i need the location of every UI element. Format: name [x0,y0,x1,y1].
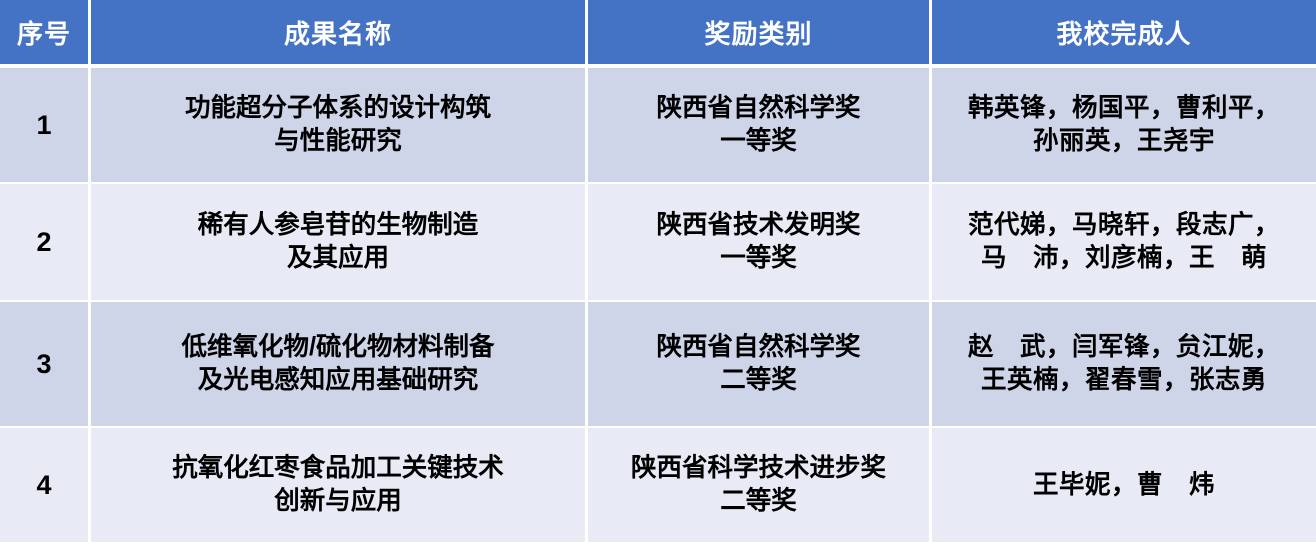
cell-award: 陕西省技术发明奖 一等奖 [588,182,932,302]
cell-name-line1: 功能超分子体系的设计构筑 [97,92,579,125]
cell-name-line1: 抗氧化红枣食品加工关键技术 [97,452,579,485]
table-header: 序号 成果名称 奖励类别 我校完成人 [0,0,1316,68]
cell-people-line2: 孙丽英，王尧宇 [938,125,1310,158]
table-row: 3 低维氧化物/硫化物材料制备 及光电感知应用基础研究 陕西省自然科学奖 二等奖… [0,302,1316,426]
cell-award: 陕西省科学技术进步奖 二等奖 [588,426,932,544]
cell-no: 4 [0,426,91,544]
cell-name-line2: 及光电感知应用基础研究 [97,364,579,397]
cell-name: 抗氧化红枣食品加工关键技术 创新与应用 [91,426,588,544]
cell-award-line1: 陕西省技术发明奖 [594,209,923,242]
cell-people-line1: 赵 武，闫军锋，贠江妮， [938,331,1310,364]
table-body: 1 功能超分子体系的设计构筑 与性能研究 陕西省自然科学奖 一等奖 韩英锋，杨国… [0,68,1316,544]
table-row: 4 抗氧化红枣食品加工关键技术 创新与应用 陕西省科学技术进步奖 二等奖 王毕妮… [0,426,1316,544]
cell-people-line1: 王毕妮，曹 炜 [938,469,1310,502]
cell-people: 赵 武，闫军锋，贠江妮， 王英楠，翟春雪，张志勇 [932,302,1316,426]
cell-award-line1: 陕西省自然科学奖 [594,92,923,125]
cell-award-line1: 陕西省科学技术进步奖 [594,452,923,485]
table-row: 1 功能超分子体系的设计构筑 与性能研究 陕西省自然科学奖 一等奖 韩英锋，杨国… [0,68,1316,182]
cell-name-line1: 低维氧化物/硫化物材料制备 [97,331,579,364]
cell-people: 王毕妮，曹 炜 [932,426,1316,544]
table-header-row: 序号 成果名称 奖励类别 我校完成人 [0,0,1316,68]
cell-people: 韩英锋，杨国平，曹利平， 孙丽英，王尧宇 [932,68,1316,182]
cell-award-line2: 二等奖 [594,485,923,518]
column-header-no: 序号 [0,0,91,68]
cell-name-line2: 及其应用 [97,242,579,275]
cell-people: 范代娣，马晓轩，段志广， 马 沛，刘彦楠，王 萌 [932,182,1316,302]
award-table-container: 序号 成果名称 奖励类别 我校完成人 1 功能超分子体系的设计构筑 与性能研究 … [0,0,1316,557]
column-header-award: 奖励类别 [588,0,932,68]
column-header-people: 我校完成人 [932,0,1316,68]
cell-name: 功能超分子体系的设计构筑 与性能研究 [91,68,588,182]
cell-award: 陕西省自然科学奖 一等奖 [588,68,932,182]
column-header-name: 成果名称 [91,0,588,68]
cell-people-line1: 范代娣，马晓轩，段志广， [938,209,1310,242]
award-results-table: 序号 成果名称 奖励类别 我校完成人 1 功能超分子体系的设计构筑 与性能研究 … [0,0,1316,544]
cell-no: 2 [0,182,91,302]
cell-people-line2: 王英楠，翟春雪，张志勇 [938,364,1310,397]
table-row: 2 稀有人参皂苷的生物制造 及其应用 陕西省技术发明奖 一等奖 范代娣，马晓轩，… [0,182,1316,302]
cell-people-line1: 韩英锋，杨国平，曹利平， [938,92,1310,125]
cell-award-line2: 一等奖 [594,125,923,158]
cell-no: 3 [0,302,91,426]
cell-award-line1: 陕西省自然科学奖 [594,331,923,364]
cell-name-line1: 稀有人参皂苷的生物制造 [97,209,579,242]
cell-no: 1 [0,68,91,182]
cell-name: 低维氧化物/硫化物材料制备 及光电感知应用基础研究 [91,302,588,426]
cell-name-line2: 与性能研究 [97,125,579,158]
cell-people-line2: 马 沛，刘彦楠，王 萌 [938,242,1310,275]
cell-award: 陕西省自然科学奖 二等奖 [588,302,932,426]
cell-award-line2: 二等奖 [594,364,923,397]
cell-name-line2: 创新与应用 [97,485,579,518]
cell-award-line2: 一等奖 [594,242,923,275]
cell-name: 稀有人参皂苷的生物制造 及其应用 [91,182,588,302]
